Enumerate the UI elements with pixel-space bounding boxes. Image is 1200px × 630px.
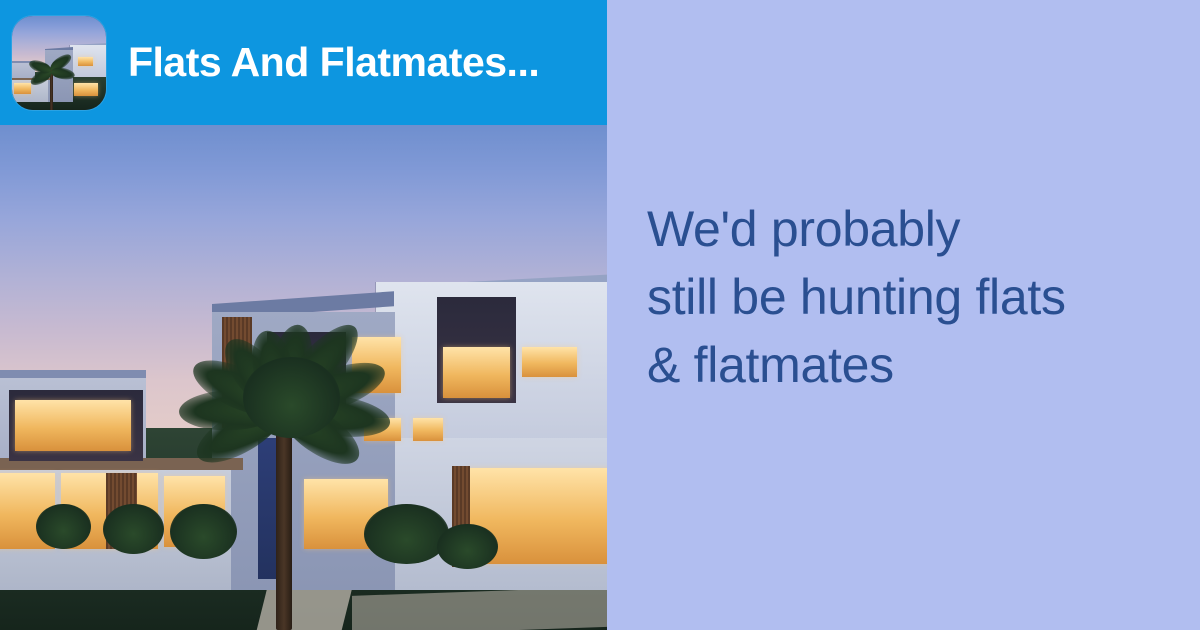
app-icon-scene	[12, 16, 106, 110]
villa-scene	[0, 125, 607, 630]
icon-window	[78, 57, 93, 66]
app-title: Flats And Flatmates...	[128, 42, 539, 83]
headline-line-1: We'd probably	[647, 195, 1180, 263]
app-icon[interactable]	[12, 16, 106, 110]
icon-window	[14, 83, 31, 94]
shrub	[170, 504, 237, 560]
headline: We'd probably still be hunting flats & f…	[647, 195, 1180, 435]
lit-slot-window	[413, 418, 443, 441]
promo-card: Flats And Flatmates...	[0, 0, 1200, 630]
headline-line-3: & flatmates	[647, 331, 1180, 399]
palm-crown	[243, 357, 340, 438]
app-header-bar: Flats And Flatmates...	[0, 0, 607, 125]
headline-line-2: still be hunting flats	[647, 263, 1180, 331]
icon-window	[74, 83, 98, 96]
shrub	[36, 504, 91, 549]
headline-panel: We'd probably still be hunting flats & f…	[607, 0, 1200, 630]
app-preview-card: Flats And Flatmates...	[0, 0, 607, 630]
shrub	[103, 504, 164, 555]
lit-window	[15, 400, 130, 451]
lit-window	[443, 347, 510, 398]
shrub	[364, 504, 449, 565]
shrub	[437, 524, 498, 569]
feature-column	[258, 438, 277, 579]
lit-window	[522, 347, 577, 377]
hero-photo	[0, 125, 607, 630]
